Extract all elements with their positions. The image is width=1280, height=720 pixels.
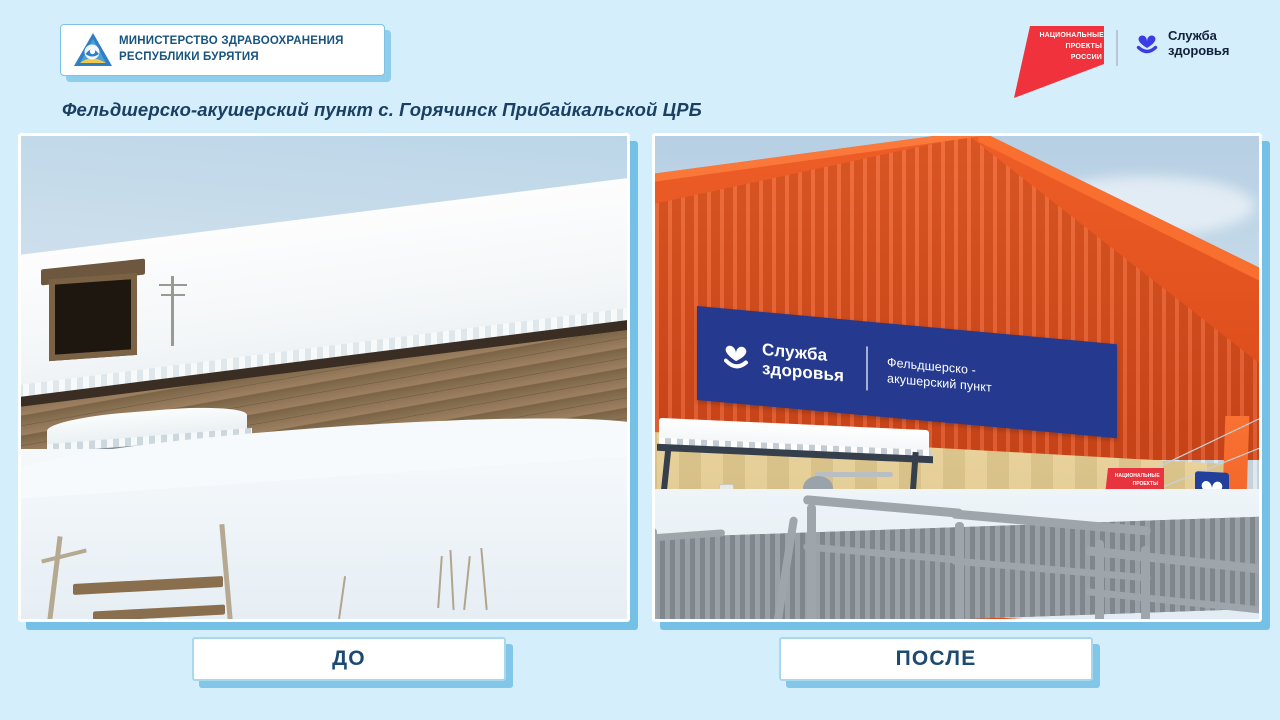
- label-before-text: ДО: [332, 647, 366, 671]
- photo-before: [18, 133, 630, 622]
- before-pole-crossarm-2: [161, 294, 185, 296]
- after-sign-subtitle: Фельдшерско - акушерский пункт: [887, 354, 992, 396]
- label-card-before: ДО: [192, 637, 506, 681]
- photo-after: Служба здоровья Фельдшерско - акушерский…: [652, 133, 1262, 622]
- national-projects-label: НАЦИОНАЛЬНЫЕ ПРОЕКТЫ РОССИИ: [1039, 29, 1102, 62]
- after-sign-brand: Служба здоровья: [762, 340, 844, 386]
- npr-line2: ПРОЕКТЫ: [1039, 40, 1102, 51]
- before-utility-pole: [171, 276, 174, 346]
- photo-after-image: Служба здоровья Фельдшерско - акушерский…: [652, 133, 1262, 622]
- ministry-name-line2: РЕСПУБЛИКИ БУРЯТИЯ: [119, 50, 344, 66]
- label-after-text: ПОСЛЕ: [896, 647, 977, 671]
- label-after-face: ПОСЛЕ: [779, 637, 1093, 681]
- ministry-name: МИНИСТЕРСТВО ЗДРАВООХРАНЕНИЯ РЕСПУБЛИКИ …: [119, 34, 344, 65]
- before-dormer: [49, 273, 137, 361]
- header-divider: [1116, 30, 1118, 66]
- after-sign-divider: [866, 346, 868, 390]
- before-dormer-opening: [55, 279, 131, 354]
- health-service-heart-icon: [1134, 31, 1160, 55]
- ministry-name-line1: МИНИСТЕРСТВО ЗДРАВООХРАНЕНИЯ: [119, 34, 344, 50]
- npr-line3: РОССИИ: [1039, 51, 1102, 62]
- health-service-logo: Служба здоровья: [1134, 28, 1229, 59]
- before-snow-ground: [21, 449, 627, 619]
- health-service-line1: Служба: [1168, 28, 1229, 43]
- national-projects-flag-icon: НАЦИОНАЛЬНЫЕ ПРОЕКТЫ РОССИИ: [1012, 24, 1104, 100]
- ministry-badge: МИНИСТЕРСТВО ЗДРАВООХРАНЕНИЯ РЕСПУБЛИКИ …: [60, 24, 385, 76]
- label-before-face: ДО: [192, 637, 506, 681]
- after-rail-post-1: [652, 528, 657, 622]
- after-wall-flag-line2: ПРОЕКТЫ: [1115, 480, 1158, 488]
- after-sign-heart-icon: [719, 340, 753, 373]
- photo-before-image: [18, 133, 630, 622]
- page-title: Фельдшерско-акушерский пункт с. Горячинс…: [62, 99, 702, 121]
- ministry-badge-card: МИНИСТЕРСТВО ЗДРАВООХРАНЕНИЯ РЕСПУБЛИКИ …: [60, 24, 385, 76]
- health-service-label: Служба здоровья: [1168, 28, 1229, 59]
- label-card-after: ПОСЛЕ: [779, 637, 1093, 681]
- ministry-logo-icon: [71, 30, 115, 70]
- after-rail-post-3: [955, 522, 964, 622]
- after-lamp-arm: [815, 472, 893, 477]
- npr-line1: НАЦИОНАЛЬНЫЕ: [1039, 29, 1102, 40]
- before-pole-crossarm-1: [159, 284, 187, 286]
- health-service-line2: здоровья: [1168, 43, 1229, 58]
- after-rail-post-2: [807, 504, 816, 622]
- after-wall-flag-line1: НАЦИОНАЛЬНЫЕ: [1115, 472, 1158, 480]
